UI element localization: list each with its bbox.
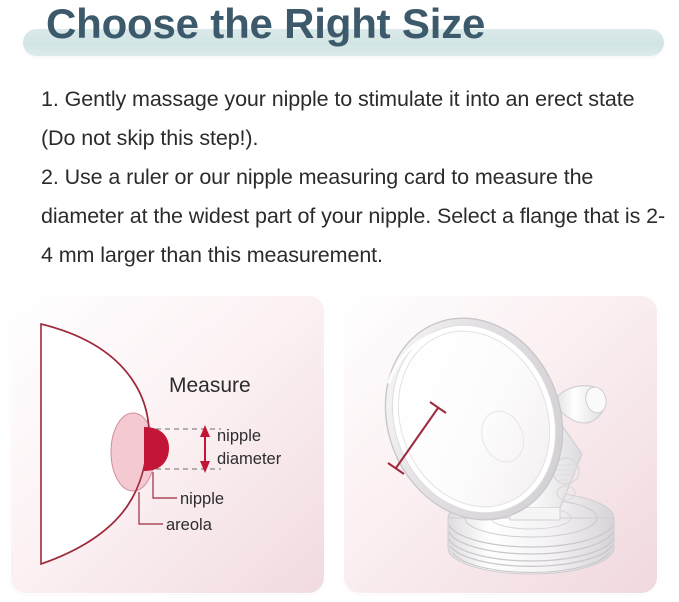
instruction-step-1: 1. Gently massage your nipple to stimula… xyxy=(41,80,666,158)
illustration-row: Measure nipple diameter nipple areola xyxy=(0,296,679,596)
breast-measurement-card: Measure nipple diameter nipple areola xyxy=(11,296,324,593)
measure-heading: Measure xyxy=(169,374,251,397)
page-header: Choose the Right Size xyxy=(0,0,679,70)
page-title: Choose the Right Size xyxy=(46,0,485,50)
nipple-label: nipple xyxy=(180,490,224,508)
instructions-block: 1. Gently massage your nipple to stimula… xyxy=(41,80,666,275)
flange-photo-card xyxy=(344,296,657,593)
breast-diagram-svg: Measure nipple diameter nipple areola xyxy=(11,296,324,593)
nipple-diameter-label-line1: nipple xyxy=(217,427,261,445)
areola-label: areola xyxy=(166,516,213,534)
flange-illustration-svg xyxy=(344,296,657,593)
instruction-step-2: 2. Use a ruler or our nipple measuring c… xyxy=(41,158,666,275)
nipple-diameter-label-line2: diameter xyxy=(217,450,282,468)
